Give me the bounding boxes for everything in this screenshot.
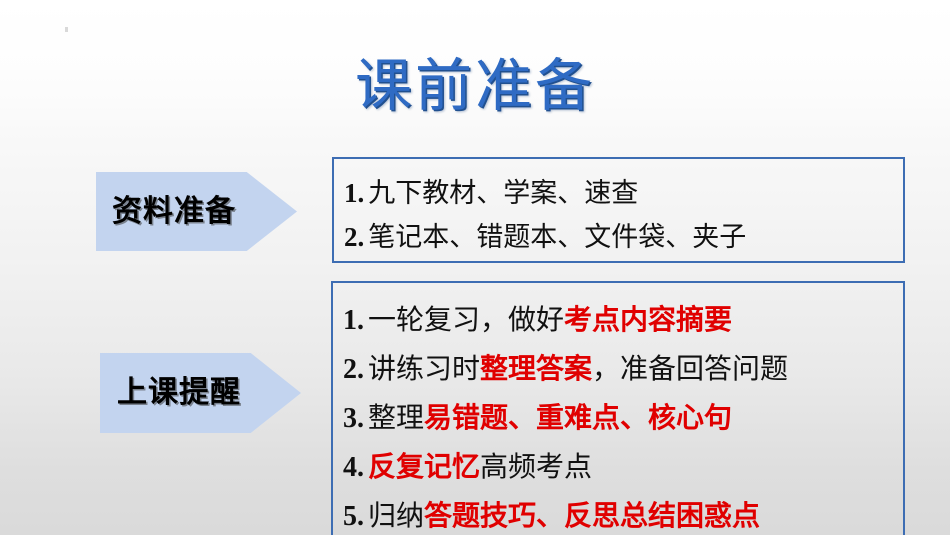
list-item-number: 4. — [343, 452, 368, 483]
list-item-number: 1. — [344, 178, 368, 208]
page-title: 课前准备 — [0, 52, 950, 122]
list-item-number: 2. — [344, 222, 368, 252]
section-label-reminders: 上课提醒 — [100, 353, 301, 433]
section-label-reminders-text: 上课提醒 — [100, 376, 241, 410]
list-item-highlight: 考点内容摘要 — [564, 305, 732, 336]
list-item: 1.九下教材、学案、速查 — [344, 171, 903, 215]
slide-canvas: 课前准备 资料准备 1.九下教材、学案、速查2.笔记本、错题本、文件袋、夹子 上… — [0, 0, 950, 535]
materials-content-box: 1.九下教材、学案、速查2.笔记本、错题本、文件袋、夹子 — [332, 157, 905, 263]
list-item-number: 2. — [343, 354, 368, 385]
reminders-content-box: 1.一轮复习，做好考点内容摘要2.讲练习时整理答案，准备回答问题3.整理易错题、… — [331, 281, 905, 535]
list-item-highlight: 整理答案 — [480, 354, 592, 385]
section-label-materials: 资料准备 — [96, 172, 297, 251]
list-item-number: 5. — [343, 501, 368, 532]
list-item-number: 1. — [343, 305, 368, 336]
list-item-highlight: 答题技巧、反思总结困惑点 — [424, 501, 760, 532]
list-item-text: 高频考点 — [480, 452, 592, 483]
list-item-text: 九下教材、学案、速查 — [368, 178, 638, 208]
list-item-text: 笔记本、错题本、文件袋、夹子 — [368, 222, 746, 252]
list-item-text: 归纳 — [368, 501, 424, 532]
list-item-number: 3. — [343, 403, 368, 434]
section-label-materials-text: 资料准备 — [96, 195, 236, 229]
list-item: 1.一轮复习，做好考点内容摘要 — [343, 296, 903, 345]
list-item-highlight: 反复记忆 — [368, 452, 480, 483]
list-item-text: 一轮复习，做好 — [368, 305, 564, 336]
list-item-text: 讲练习时 — [368, 354, 480, 385]
list-item-text: 整理 — [368, 403, 424, 434]
list-item: 2.讲练习时整理答案，准备回答问题 — [343, 345, 903, 394]
list-item: 4.反复记忆高频考点 — [343, 443, 903, 492]
list-item: 2.笔记本、错题本、文件袋、夹子 — [344, 215, 903, 259]
list-item-highlight: 易错题、重难点、核心句 — [424, 403, 732, 434]
dust-speck-artifact — [65, 27, 68, 32]
list-item-text: ，准备回答问题 — [592, 354, 788, 385]
list-item: 3.整理易错题、重难点、核心句 — [343, 394, 903, 443]
list-item: 5.归纳答题技巧、反思总结困惑点 — [343, 492, 903, 535]
